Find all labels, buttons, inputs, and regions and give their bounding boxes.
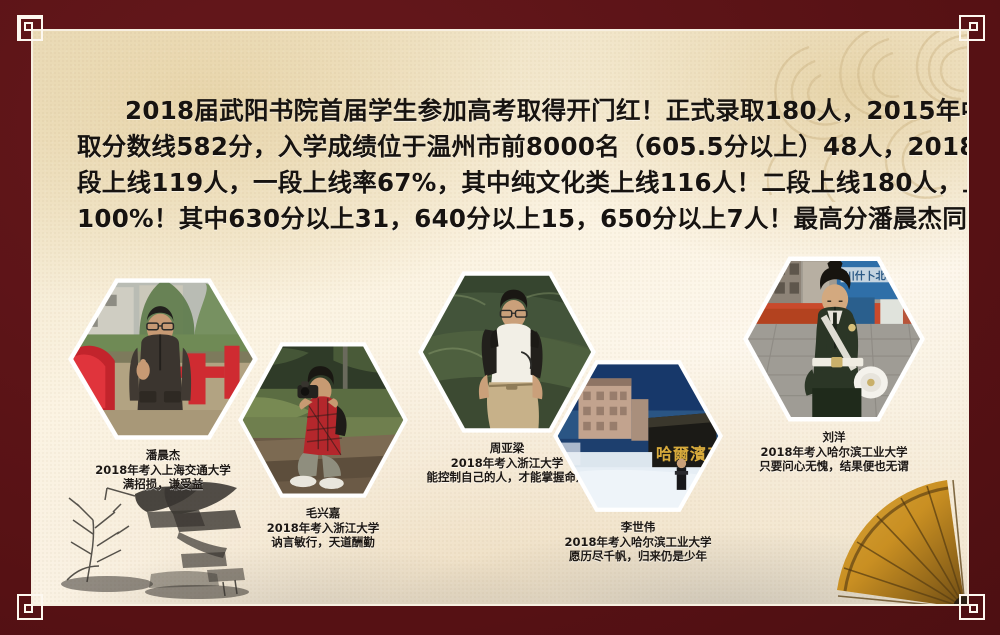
student-university: 2018年考入哈尔滨工业大学	[743, 445, 925, 460]
headline-line-3: 段上线119人，一段上线率67%，其中纯文化类上线116人！二段上线180人，上…	[77, 165, 937, 201]
student-card[interactable]: 哈爾濱工業大學 HARBIN INSTITUTE OF TECHNOLO	[553, 357, 723, 564]
page-title: 2018届武阳书院首届学生参加高考取得开门红！正式录取180人，2015年中考录…	[77, 93, 937, 237]
student-university: 2018年考入哈尔滨工业大学	[553, 535, 723, 550]
student-photo	[243, 343, 404, 496]
student-name: 李世伟	[553, 520, 723, 535]
student-university: 2018年考入浙江大学	[238, 521, 408, 536]
corner-ornament-top-right	[951, 15, 985, 49]
student-photo	[73, 280, 253, 439]
student-motto: 讷言敏行，天道酬勤	[238, 535, 408, 550]
headline-line-4: 100%！其中630分以上31，640分以上15，650分以上7人！最高分潘晨杰…	[77, 201, 937, 237]
corner-square-inner	[969, 22, 978, 31]
student-caption: 李世伟 2018年考入哈尔滨工业大学 愿历尽千帆，归来仍是少年	[553, 520, 723, 564]
student-caption: 刘洋 2018年考入哈尔滨工业大学 只要问心无愧，结果便也无谓	[743, 430, 925, 474]
corner-ornament-bottom-right	[951, 586, 985, 620]
student-card[interactable]: 川什卜北	[743, 253, 925, 474]
student-motto: 满招损，谦受益	[68, 477, 258, 492]
student-photo-frame[interactable]: 哈爾濱工業大學 HARBIN INSTITUTE OF TECHNOLO	[553, 357, 723, 515]
student-caption: 潘晨杰 2018年考入上海交通大学 满招损，谦受益	[68, 448, 258, 492]
student-name: 潘晨杰	[68, 448, 258, 463]
student-motto: 只要问心无愧，结果便也无谓	[743, 459, 925, 474]
paper-panel: 2018届武阳书院首届学生参加高考取得开门红！正式录取180人，2015年中考录…	[33, 31, 967, 604]
corner-square-inner	[24, 604, 33, 613]
student-photo-frame[interactable]	[238, 339, 408, 501]
student-photo-frame[interactable]	[68, 275, 258, 443]
svg-text:哈爾濱工業大學: 哈爾濱工業大學	[656, 445, 718, 464]
student-university: 2018年考入上海交通大学	[68, 463, 258, 478]
student-card[interactable]: 毛兴嘉 2018年考入浙江大学 讷言敏行，天道酬勤	[238, 339, 408, 550]
student-motto: 愿历尽千帆，归来仍是少年	[553, 549, 723, 564]
headline-line-2: 取分数线582分，入学成绩位于温州市前8000名（605.5分以上）48人，20…	[77, 129, 937, 165]
student-caption: 毛兴嘉 2018年考入浙江大学 讷言敏行，天道酬勤	[238, 506, 408, 550]
corner-ornament-bottom-left	[17, 586, 51, 620]
student-photo: 川什卜北	[748, 258, 920, 421]
student-photo-frame[interactable]: 川什卜北	[743, 253, 925, 425]
headline-line-1: 2018届武阳书院首届学生参加高考取得开门红！正式录取180人，2015年中考录	[77, 93, 937, 129]
student-photo: 哈爾濱工業大學 HARBIN INSTITUTE OF TECHNOLO	[558, 361, 719, 510]
corner-ornament-top-left	[17, 15, 51, 49]
corner-square-inner	[969, 604, 978, 613]
student-name: 毛兴嘉	[238, 506, 408, 521]
poster-root: 2018届武阳书院首届学生参加高考取得开门红！正式录取180人，2015年中考录…	[0, 0, 1000, 635]
student-name: 刘洋	[743, 430, 925, 445]
corner-square-inner	[24, 22, 33, 31]
student-card[interactable]: 潘晨杰 2018年考入上海交通大学 满招损，谦受益	[68, 275, 258, 492]
